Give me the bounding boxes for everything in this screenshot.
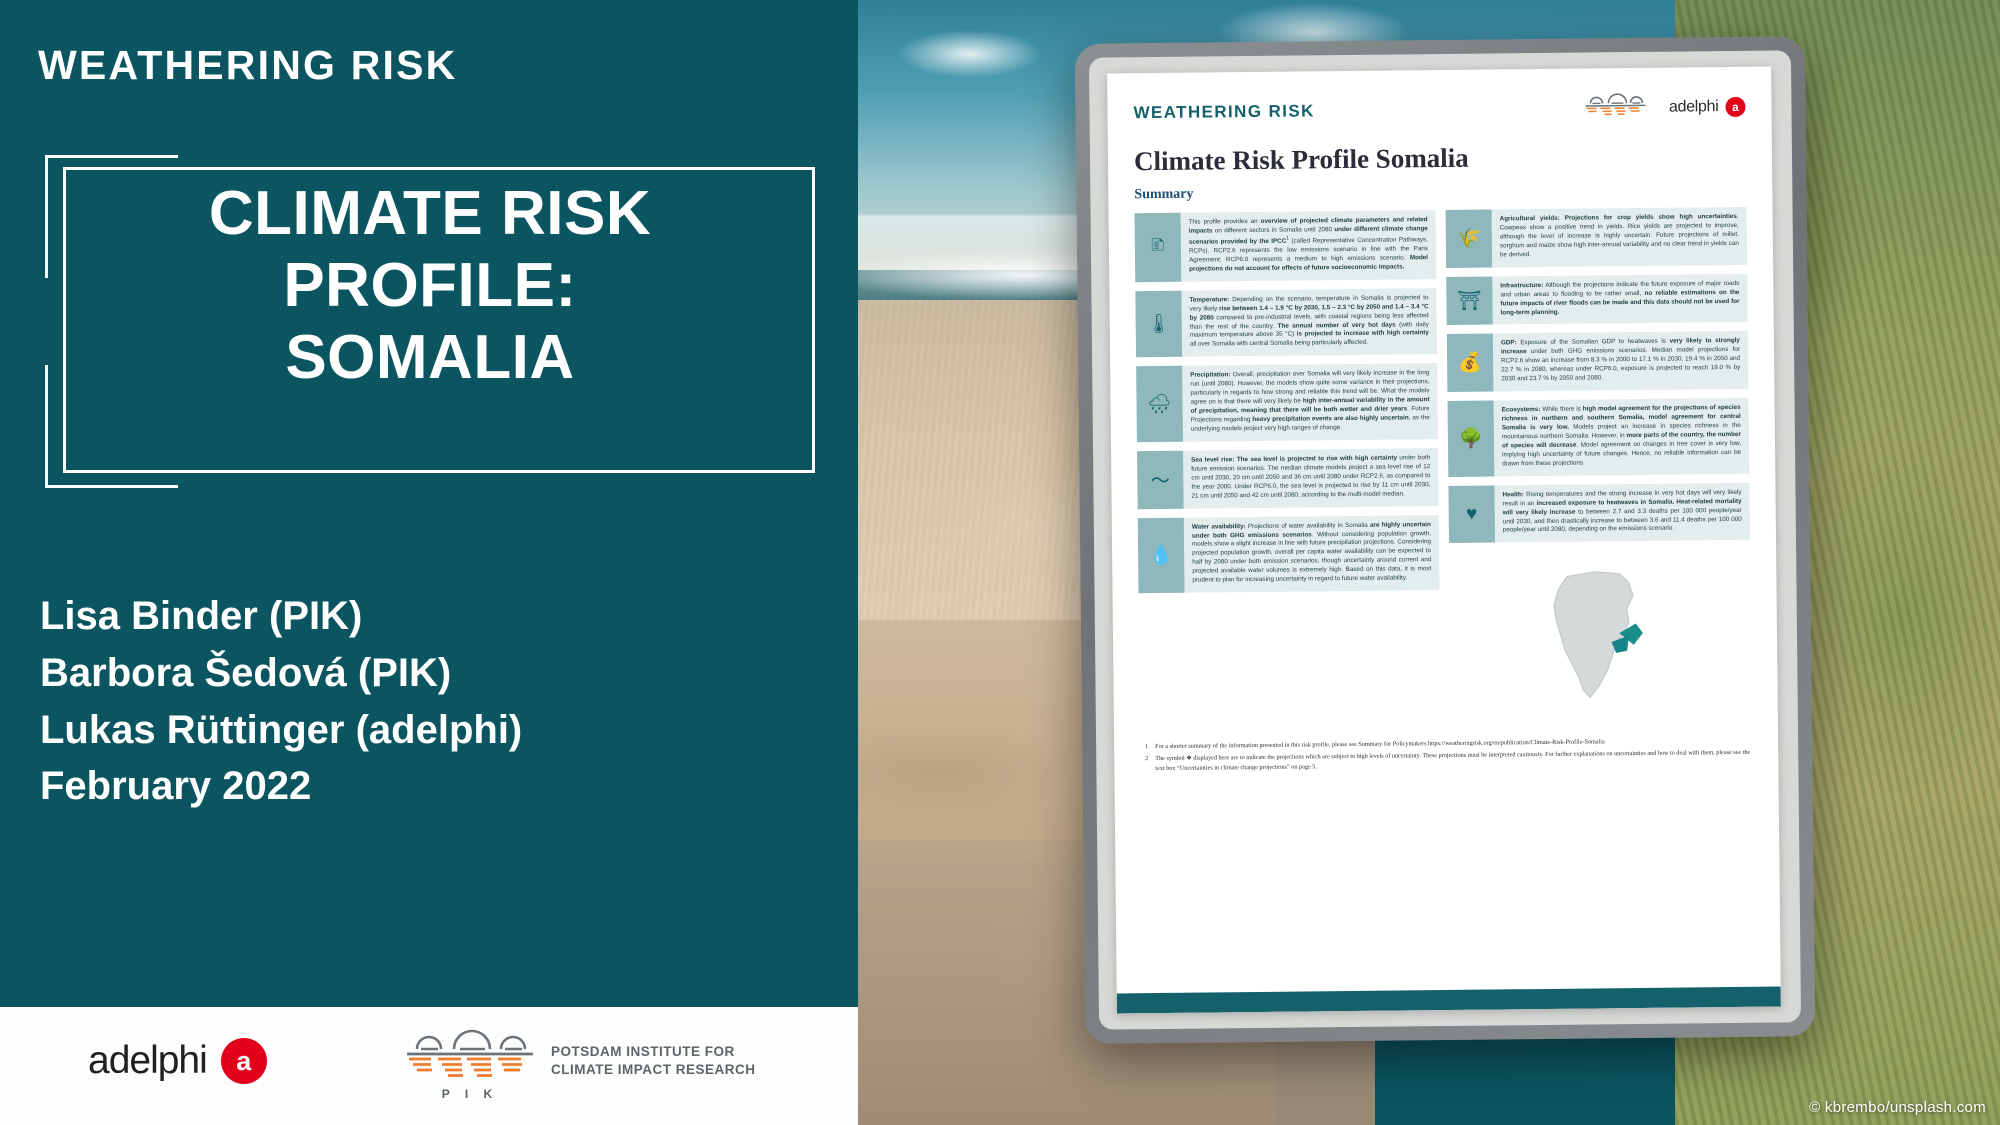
pik-institute-name: Potsdam Institute for Climate Impact Res…	[551, 1043, 756, 1079]
pik-institute-line-2: Climate Impact Research	[551, 1061, 756, 1079]
document-header-logos: adelphi a	[1585, 89, 1746, 126]
tablet-screen: WEATHERING RISK	[1089, 50, 1801, 1029]
author-line: Barbora Šedová (PIK)	[40, 645, 800, 702]
summary-card-text: Infrastructure: Although the projections…	[1492, 274, 1747, 325]
author-list: Lisa Binder (PIK)Barbora Šedová (PIK)Luk…	[40, 588, 800, 815]
page-title-line-2: PROFILE:	[60, 250, 800, 322]
pik-logo-doc	[1585, 90, 1647, 126]
adelphi-wordmark-doc: adelphi	[1669, 98, 1719, 117]
author-line: Lisa Binder (PIK)	[40, 588, 800, 645]
summary-card: ♥Health: Rising temperatures and the str…	[1448, 482, 1750, 543]
summary-card-text: Sea level rise: The sea level is project…	[1183, 448, 1439, 508]
adelphi-logo-doc: adelphi a	[1669, 96, 1746, 117]
document-page: WEATHERING RISK	[1107, 67, 1781, 1014]
pik-mark-icon-large	[405, 1025, 535, 1083]
summary-card: 🌾Agricultural yields: Projections for cr…	[1446, 207, 1748, 268]
summary-grid: 🗈This profile provides an overview of pr…	[1109, 205, 1778, 727]
summary-card-text: This profile provides an overview of pro…	[1181, 210, 1437, 281]
infrastructure-icon: ⛩	[1446, 276, 1493, 325]
document-bottom-bar	[1117, 987, 1781, 1014]
summary-card-text: Water availability: Projections of water…	[1184, 515, 1440, 593]
slide-root: © kbrembo/unsplash.com WEATHERING RISK	[0, 0, 2000, 1125]
pik-mark-icon	[1585, 90, 1647, 121]
weathering-risk-logo-doc: WEATHERING RISK	[1133, 101, 1314, 123]
weathering-risk-logo: WEATHERING RISK	[38, 42, 457, 89]
title-panel	[0, 0, 858, 1007]
page-title: CLIMATE RISK PROFILE: SOMALIA	[60, 178, 800, 394]
summary-column-left: 🗈This profile provides an overview of pr…	[1135, 210, 1441, 726]
summary-card: 💧Water availability: Projections of wate…	[1138, 515, 1440, 594]
document-header: WEATHERING RISK	[1107, 67, 1772, 135]
gdp-money-icon: 💰	[1447, 334, 1494, 392]
summary-card-text: Precipitation: Overall, precipitation ov…	[1182, 363, 1438, 441]
adelphi-wordmark: adelphi	[88, 1039, 207, 1083]
document-search-icon: 🗈	[1135, 213, 1182, 282]
health-heart-icon: ♥	[1448, 485, 1495, 543]
summary-card-text: Health: Rising temperatures and the stro…	[1494, 482, 1750, 542]
pik-wordmark: P I K	[442, 1087, 498, 1101]
adelphi-mark-doc: a	[1725, 96, 1745, 116]
africa-map-icon	[1449, 555, 1752, 723]
footnote-row: 2The symbol ❖ displayed here are to indi…	[1140, 748, 1752, 774]
adelphi-mark-icon: a	[221, 1038, 267, 1084]
footnote-number: 2	[1140, 754, 1148, 773]
summary-card: 〜Sea level rise: The sea level is projec…	[1137, 448, 1439, 509]
document-footnotes: 1For a shorter summary of the informatio…	[1114, 720, 1778, 774]
tablet-device: WEATHERING RISK	[1075, 36, 1815, 1044]
pik-logo: P I K Potsdam Institute for Climate Impa…	[405, 1025, 756, 1097]
photo-credit: © kbrembo/unsplash.com	[1809, 1099, 1986, 1116]
summary-card-map	[1449, 549, 1752, 723]
summary-card: 🌧Precipitation: Overall, precipitation o…	[1136, 363, 1438, 442]
summary-card-text: Temperature: Depending on the scenario, …	[1181, 288, 1437, 357]
summary-card: 🗈This profile provides an overview of pr…	[1135, 210, 1437, 282]
water-drops-icon: 💧	[1138, 517, 1185, 593]
crop-yield-icon: 🌾	[1446, 209, 1493, 267]
page-title-line-1: CLIMATE RISK	[60, 178, 800, 250]
summary-card: ⛩Infrastructure: Although the projection…	[1446, 274, 1747, 326]
summary-card-text: Ecosystems: While there is high model ag…	[1494, 398, 1750, 476]
sea-level-icon: 〜	[1137, 451, 1184, 509]
summary-card-text: Agricultural yields: Projections for cro…	[1492, 207, 1748, 267]
author-line: Lukas Rüttinger (adelphi)	[40, 702, 800, 759]
page-title-line-3: SOMALIA	[60, 322, 800, 394]
summary-card: 💰GDP: Exposure of the Somalian GDP to he…	[1447, 331, 1749, 392]
rain-cloud-icon: 🌧	[1136, 366, 1183, 442]
author-line: February 2022	[40, 758, 800, 815]
pik-mark-wrap: P I K	[405, 1025, 535, 1097]
document-title: Climate Risk Profile Somalia	[1108, 128, 1772, 178]
footnote-text: The symbol ❖ displayed here are to indic…	[1155, 748, 1752, 773]
thermometer-icon: 🌡	[1135, 290, 1182, 357]
adelphi-logo: adelphi a	[88, 1038, 267, 1084]
summary-card-text: GDP: Exposure of the Somalian GDP to hea…	[1493, 331, 1749, 391]
summary-card: 🌡Temperature: Depending on the scenario,…	[1135, 288, 1437, 358]
pik-institute-line-1: Potsdam Institute for	[551, 1043, 756, 1061]
ecosystem-tree-icon: 🌳	[1448, 401, 1495, 477]
footnote-number: 1	[1140, 742, 1148, 752]
summary-card: 🌳Ecosystems: While there is high model a…	[1448, 398, 1750, 477]
summary-column-right: 🌾Agricultural yields: Projections for cr…	[1446, 207, 1752, 723]
